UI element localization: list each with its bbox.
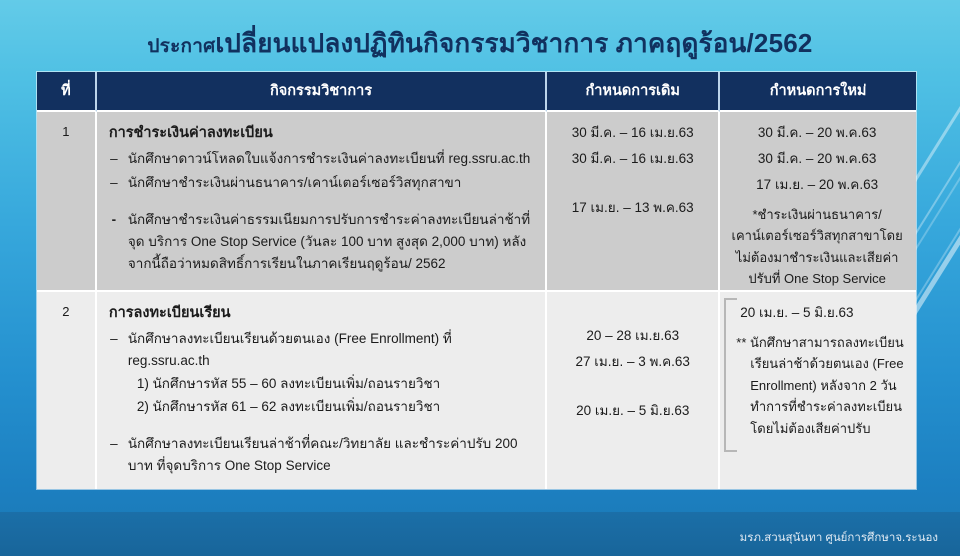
new-date: 17 เม.ย. – 20 พ.ค.63 xyxy=(726,174,908,196)
bullet-dash: - xyxy=(109,209,119,275)
new-schedule-note: ** นักศึกษาสามารถลงทะเบียนเรียนล่าช้าด้ว… xyxy=(736,332,908,440)
column-header-old-schedule: กำหนดการเดิม xyxy=(547,72,720,112)
bullet-dash: – xyxy=(109,172,119,194)
slide-canvas: ประกาศเปลี่ยนแปลงปฏิทินกิจกรรมวิชาการ ภา… xyxy=(0,0,960,556)
new-schedule-note: *ชำระเงินผ่านธนาคาร/เคาน์เตอร์เซอร์วิสทุ… xyxy=(726,204,908,290)
new-date: 20 เม.ย. – 5 มิ.ย.63 xyxy=(736,302,908,324)
activity-cell: การชำระเงินค่าลงทะเบียน – นักศึกษาดาวน์โ… xyxy=(97,112,547,290)
bullet-dash: – xyxy=(109,433,119,477)
column-header-new-schedule: กำหนดการใหม่ xyxy=(720,72,916,112)
old-date: 17 เม.ย. – 13 พ.ค.63 xyxy=(553,197,712,219)
row-number: 2 xyxy=(37,292,95,319)
activity-heading: การลงทะเบียนเรียน xyxy=(109,302,535,325)
column-header-activity: กิจกรรมวิชาการ xyxy=(97,72,547,112)
new-date: 30 มี.ค. – 20 พ.ค.63 xyxy=(726,148,908,170)
table-header-row: ที่ กิจกรรมวิชาการ กำหนดการเดิม กำหนดการ… xyxy=(37,72,916,112)
spacer xyxy=(553,174,712,197)
spacer xyxy=(553,302,712,325)
bullet-text: นักศึกษาลงทะเบียนเรียนด้วยตนเอง (Free En… xyxy=(128,328,535,372)
table-row: 2 การลงทะเบียนเรียน – นักศึกษาลงทะเบียนเ… xyxy=(37,290,916,489)
brace-bracket-shape xyxy=(724,298,737,452)
old-date: 30 มี.ค. – 16 เม.ย.63 xyxy=(553,122,712,144)
old-date: 20 เม.ย. – 5 มิ.ย.63 xyxy=(553,400,712,422)
new-schedule-cell: 30 มี.ค. – 20 พ.ค.63 30 มี.ค. – 20 พ.ค.6… xyxy=(720,112,916,290)
page-title: ประกาศเปลี่ยนแปลงปฏิทินกิจกรรมวิชาการ ภา… xyxy=(0,23,960,64)
activity-bullet: – นักศึกษาชำระเงินผ่านธนาคาร/เคาน์เตอร์เ… xyxy=(109,172,535,194)
academic-calendar-table: ที่ กิจกรรมวิชาการ กำหนดการเดิม กำหนดการ… xyxy=(37,72,916,489)
old-schedule-cell: 30 มี.ค. – 16 เม.ย.63 30 มี.ค. – 16 เม.ย… xyxy=(547,112,720,290)
activity-cell: การลงทะเบียนเรียน – นักศึกษาลงทะเบียนเรี… xyxy=(97,290,547,489)
bullet-text: นักศึกษาชำระเงินผ่านธนาคาร/เคาน์เตอร์เซอ… xyxy=(128,172,535,194)
row-number: 1 xyxy=(37,112,95,139)
bullet-text: นักศึกษาลงทะเบียนเรียนล่าช้าที่คณะ/วิทยา… xyxy=(128,433,535,477)
page-title-prefix: ประกาศ xyxy=(147,36,215,57)
activity-subitem: 2) นักศึกษารหัส 61 – 62 ลงทะเบียนเพิ่ม/ถ… xyxy=(137,396,535,418)
old-schedule-cell: 20 – 28 เม.ย.63 27 เม.ย. – 3 พ.ค.63 20 เ… xyxy=(547,290,720,489)
table-row: 1 การชำระเงินค่าลงทะเบียน – นักศึกษาดาวน… xyxy=(37,112,916,290)
old-date: 27 เม.ย. – 3 พ.ค.63 xyxy=(553,351,712,373)
old-date: 20 – 28 เม.ย.63 xyxy=(553,325,712,347)
activity-bullet: – นักศึกษาลงทะเบียนเรียนด้วยตนเอง (Free … xyxy=(109,328,535,372)
bullet-text: นักศึกษาชำระเงินค่าธรรมเนียมการปรับการชำ… xyxy=(128,209,535,275)
spacer xyxy=(553,377,712,400)
bullet-dash: – xyxy=(109,328,119,372)
new-schedule-cell: 20 เม.ย. – 5 มิ.ย.63 ** นักศึกษาสามารถลง… xyxy=(720,290,916,489)
activity-bullet: – นักศึกษาลงทะเบียนเรียนล่าช้าที่คณะ/วิท… xyxy=(109,433,535,477)
row-number-cell: 1 xyxy=(37,112,97,290)
new-date: 30 มี.ค. – 20 พ.ค.63 xyxy=(726,122,908,144)
activity-subitem: 1) นักศึกษารหัส 55 – 60 ลงทะเบียนเพิ่ม/ถ… xyxy=(137,373,535,395)
old-date: 30 มี.ค. – 16 เม.ย.63 xyxy=(553,148,712,170)
spacer xyxy=(109,194,535,207)
activity-heading: การชำระเงินค่าลงทะเบียน xyxy=(109,122,535,145)
spacer xyxy=(109,418,535,431)
column-header-no: ที่ xyxy=(37,72,97,112)
activity-bullet: - นักศึกษาชำระเงินค่าธรรมเนียมการปรับการ… xyxy=(109,209,535,275)
bullet-dash: – xyxy=(109,148,119,170)
activity-bullet: – นักศึกษาดาวน์โหลดใบแจ้งการชำระเงินค่าล… xyxy=(109,148,535,170)
bullet-text: นักศึกษาดาวน์โหลดใบแจ้งการชำระเงินค่าลงท… xyxy=(128,148,535,170)
page-title-main: เปลี่ยนแปลงปฏิทินกิจกรรมวิชาการ ภาคฤดูร้… xyxy=(215,28,812,58)
row-number-cell: 2 xyxy=(37,290,97,489)
slide-footer: มรภ.สวนสุนันทา ศูนย์การศึกษาจ.ระนอง xyxy=(740,529,938,547)
